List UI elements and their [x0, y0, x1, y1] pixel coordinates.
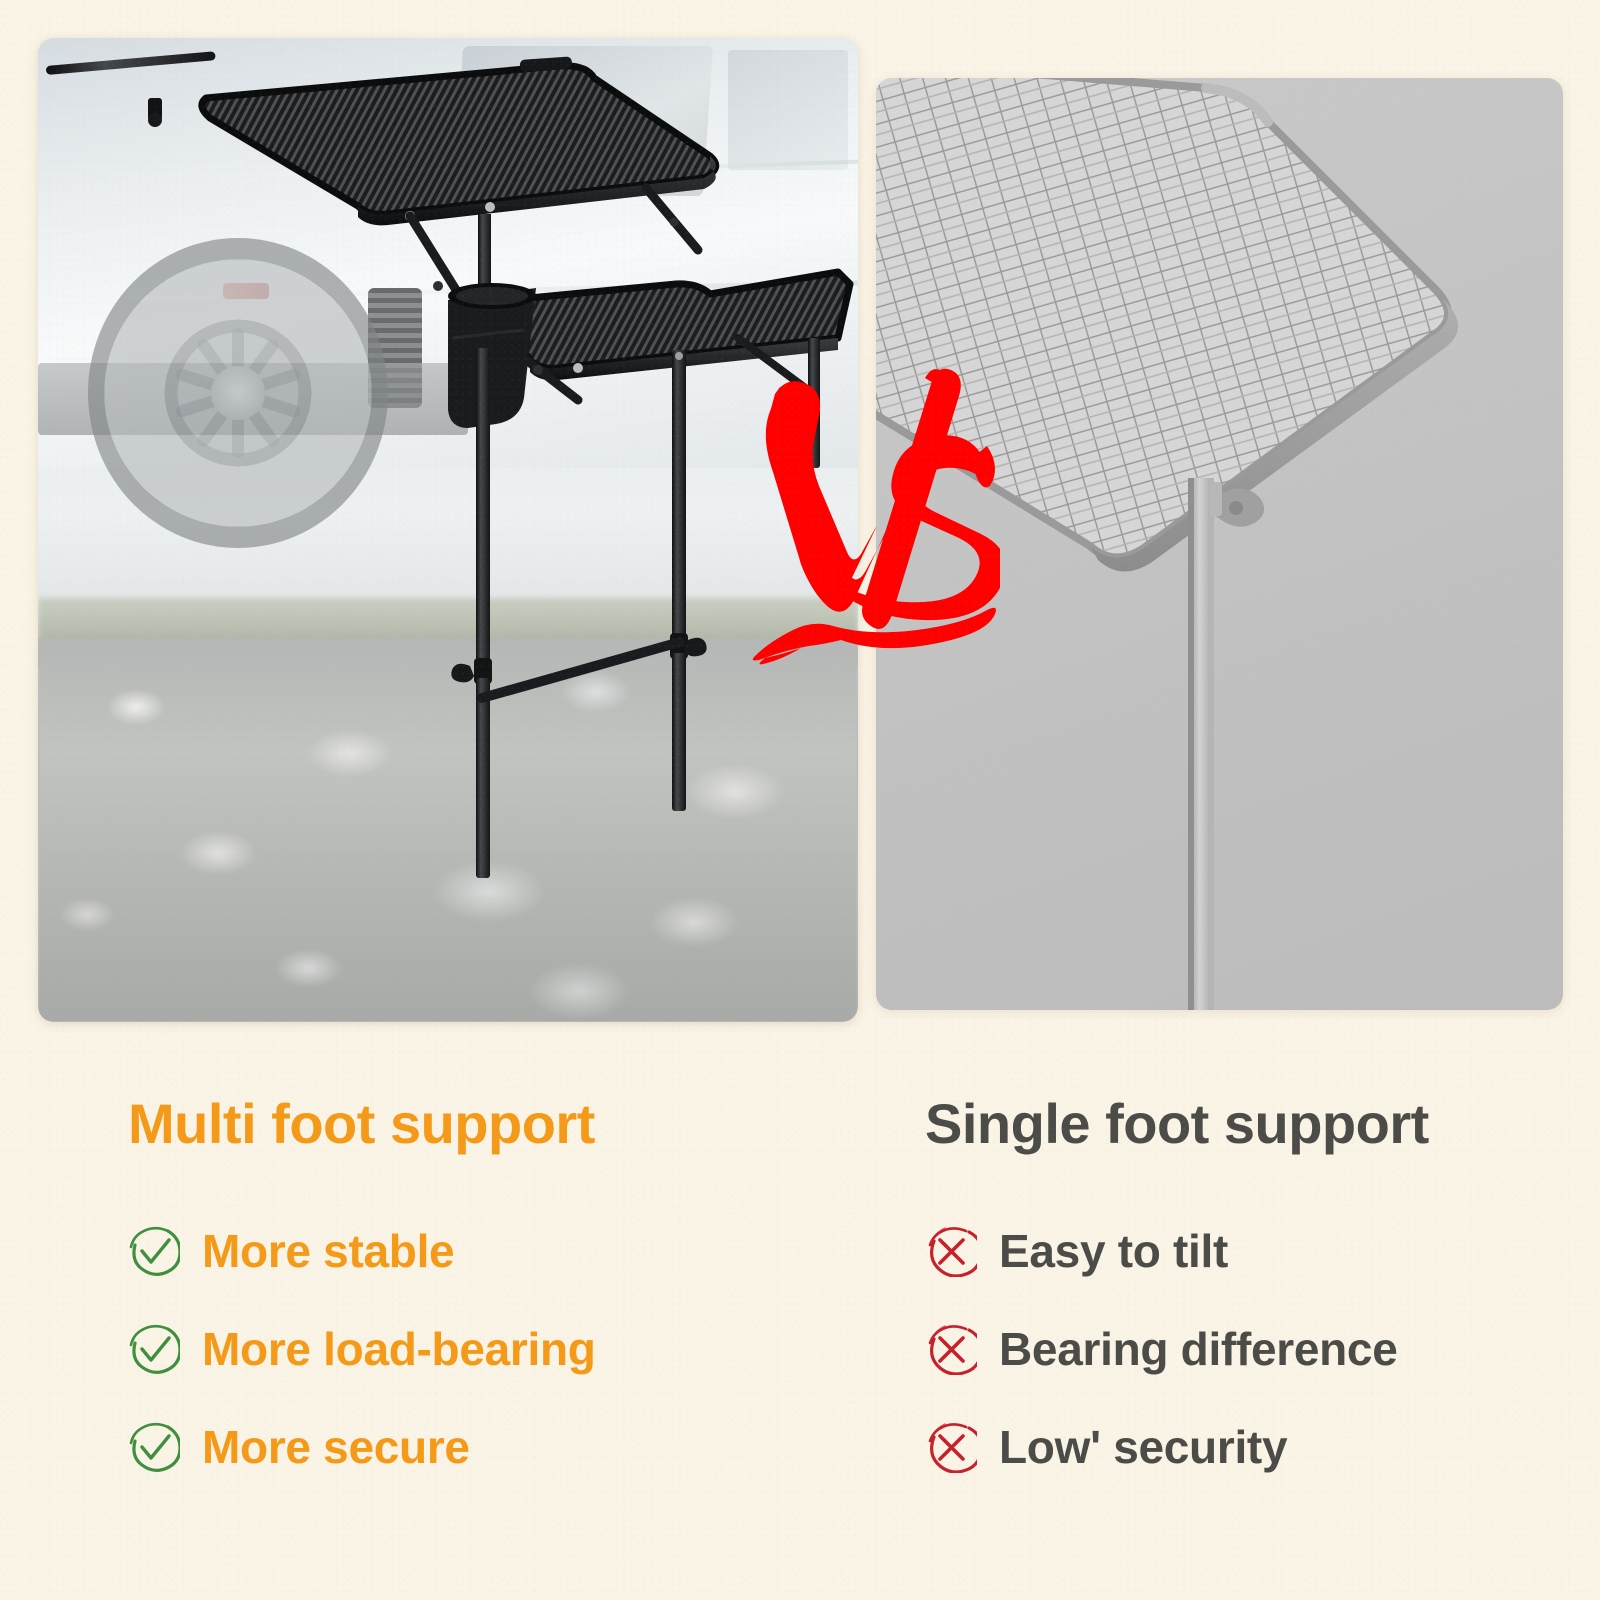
column-single-foot: Single foot support Easy to tilt Be	[925, 1095, 1585, 1514]
cross-circle-icon	[925, 1323, 977, 1375]
list-item-label: Bearing difference	[999, 1326, 1398, 1372]
list-item: Easy to tilt	[925, 1220, 1585, 1282]
list-item: Bearing difference	[925, 1318, 1585, 1380]
list-item: More secure	[128, 1416, 868, 1478]
check-circle-icon	[128, 1421, 180, 1473]
single-foot-heading: Single foot support	[925, 1095, 1585, 1154]
check-circle-icon	[128, 1225, 180, 1277]
column-multi-foot: Multi foot support More stable More load…	[128, 1095, 868, 1514]
list-item-label: More load-bearing	[202, 1326, 596, 1372]
list-item: More stable	[128, 1220, 868, 1282]
comparison-photo-area	[0, 0, 1600, 1080]
list-item-label: Low' security	[999, 1424, 1287, 1470]
comparison-text-area: Multi foot support More stable More load…	[0, 1095, 1600, 1565]
cross-circle-icon	[925, 1225, 977, 1277]
list-item-label: More secure	[202, 1424, 470, 1470]
multi-foot-support-photo	[38, 38, 858, 1022]
multi-foot-table-illustration	[38, 38, 858, 1022]
list-item-label: Easy to tilt	[999, 1228, 1228, 1274]
list-item: Low' security	[925, 1416, 1585, 1478]
cross-circle-icon	[925, 1421, 977, 1473]
multi-foot-heading: Multi foot support	[128, 1095, 868, 1154]
list-item: More load-bearing	[128, 1318, 868, 1380]
list-item-label: More stable	[202, 1228, 454, 1274]
versus-badge	[745, 368, 1000, 668]
check-circle-icon	[128, 1323, 180, 1375]
